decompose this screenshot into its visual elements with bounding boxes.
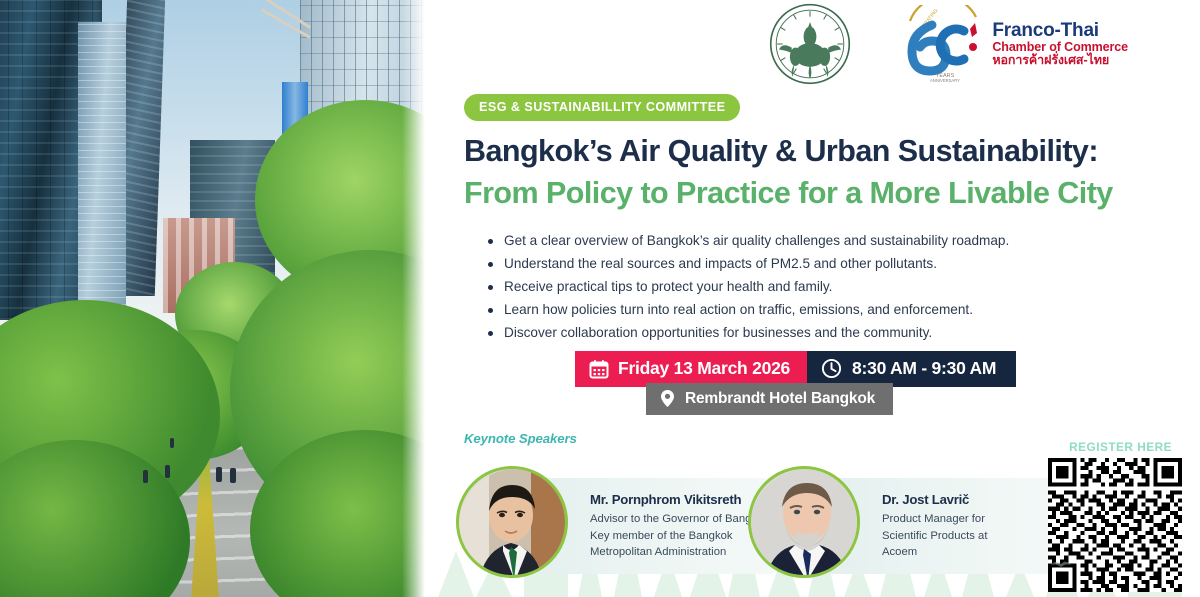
location-pin-icon xyxy=(659,389,676,408)
event-datetime-bar: Friday 13 March 2026 8:30 AM - 9:30 AM xyxy=(575,351,1016,387)
calendar-icon xyxy=(589,359,609,379)
avatar xyxy=(456,466,568,578)
jogger xyxy=(230,468,236,483)
list-item: Receive practical tips to protect your h… xyxy=(486,276,1126,298)
event-venue-text: Rembrandt Hotel Bangkok xyxy=(685,390,875,408)
speaker-role-line3: Acoem xyxy=(882,544,1072,561)
svg-text:ANNIVERSARY: ANNIVERSARY xyxy=(930,78,960,83)
logo-group: CELEBRATING YEARS ANNIVERSARY Franco-Tha… xyxy=(764,2,1128,86)
speaker-role-line2: Scientific Products at xyxy=(882,528,1072,545)
registration-qr-code[interactable] xyxy=(1048,458,1182,592)
event-time-text: 8:30 AM - 9:30 AM xyxy=(852,358,996,379)
register-here-label: REGISTER HERE xyxy=(1069,440,1172,454)
ftcc-60-anniversary-mark-icon: CELEBRATING YEARS ANNIVERSARY xyxy=(902,5,988,83)
jogger xyxy=(143,470,148,483)
bangkok-metropolitan-administration-seal-icon xyxy=(764,2,856,86)
keynote-speakers-label: Keynote Speakers xyxy=(464,431,577,446)
bird-silhouette-icon xyxy=(1050,557,1072,569)
event-date-block: Friday 13 March 2026 xyxy=(575,351,807,387)
page-title-line1: Bangkok’s Air Quality & Urban Sustainabi… xyxy=(464,134,1194,169)
jogger xyxy=(165,465,170,478)
event-time-block: 8:30 AM - 9:30 AM xyxy=(807,351,1016,387)
list-item: Discover collaboration opportunities for… xyxy=(486,322,1126,344)
jogger xyxy=(216,467,222,482)
speaker-role-line1: Product Manager for xyxy=(882,511,1072,528)
event-date-text: Friday 13 March 2026 xyxy=(618,358,790,379)
avatar xyxy=(748,466,860,578)
list-item: Learn how policies turn into real action… xyxy=(486,299,1126,321)
speaker-name: Dr. Jost Lavrič xyxy=(882,492,1072,507)
event-venue-block: Rembrandt Hotel Bangkok xyxy=(646,383,893,415)
jogger xyxy=(170,438,174,448)
ftcc-name: Franco-Thai xyxy=(992,21,1128,41)
list-item: Understand the real sources and impacts … xyxy=(486,253,1126,275)
ftcc-subtitle-th: หอการค้าฝรั่งเศส-ไทย xyxy=(992,54,1128,67)
committee-badge: ESG & SUSTAINABILLITY COMMITTEE xyxy=(464,94,740,121)
photo-edge-fade xyxy=(402,0,428,597)
speaker-info: Dr. Jost Lavrič Product Manager for Scie… xyxy=(882,492,1072,561)
speaker-role-line3: Metropolitan Administration xyxy=(590,544,780,561)
content-panel: CELEBRATING YEARS ANNIVERSARY Franco-Tha… xyxy=(428,0,1200,597)
hero-photo-bangkok-green-city xyxy=(0,0,428,597)
clock-icon xyxy=(821,358,842,379)
page-title-line2: From Policy to Practice for a More Livab… xyxy=(464,176,1194,211)
list-item: Get a clear overview of Bangkok’s air qu… xyxy=(486,230,1126,252)
event-poster: CELEBRATING YEARS ANNIVERSARY Franco-Tha… xyxy=(0,0,1200,597)
franco-thai-chamber-logo: CELEBRATING YEARS ANNIVERSARY Franco-Tha… xyxy=(902,5,1128,83)
skyscraper-light-mid xyxy=(78,22,126,312)
highlights-list: Get a clear overview of Bangkok’s air qu… xyxy=(486,230,1126,345)
